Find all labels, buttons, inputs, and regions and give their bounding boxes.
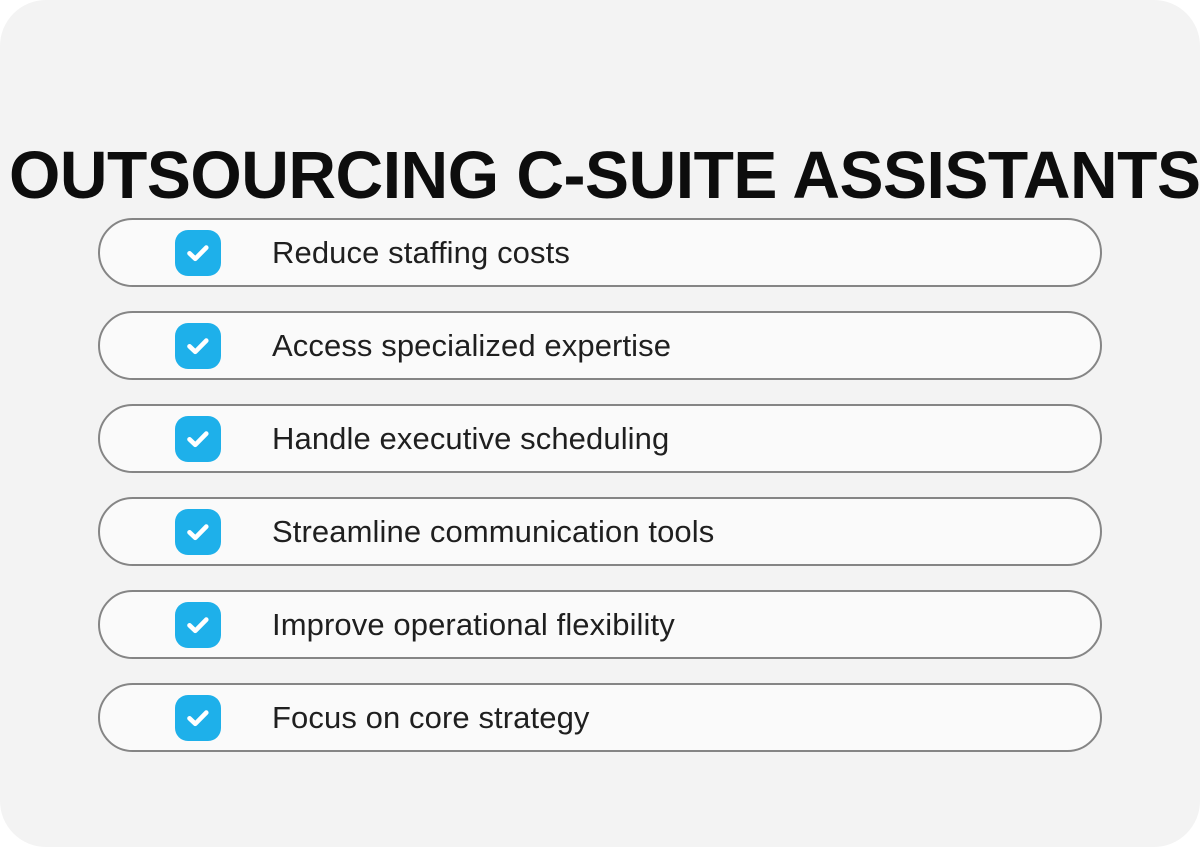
check-icon — [183, 517, 213, 547]
checklist: Reduce staffing costs Access specialized… — [98, 218, 1102, 752]
page-title: OUTSOURCING C-SUITE ASSISTANTS — [9, 142, 1191, 209]
list-item-label: Focus on core strategy — [272, 700, 590, 736]
check-icon — [183, 331, 213, 361]
list-item-label: Streamline communication tools — [272, 514, 714, 550]
list-item-label: Improve operational flexibility — [272, 607, 675, 643]
checklist-card: OUTSOURCING C-SUITE ASSISTANTS Reduce st… — [0, 0, 1200, 847]
check-icon — [183, 238, 213, 268]
checkbox-checked[interactable] — [175, 509, 221, 555]
check-icon — [183, 610, 213, 640]
list-item[interactable]: Focus on core strategy — [98, 683, 1102, 752]
check-icon — [183, 703, 213, 733]
list-item-label: Access specialized expertise — [272, 328, 671, 364]
checkbox-checked[interactable] — [175, 230, 221, 276]
list-item[interactable]: Streamline communication tools — [98, 497, 1102, 566]
list-item[interactable]: Handle executive scheduling — [98, 404, 1102, 473]
list-item-label: Reduce staffing costs — [272, 235, 570, 271]
list-item[interactable]: Reduce staffing costs — [98, 218, 1102, 287]
list-item[interactable]: Access specialized expertise — [98, 311, 1102, 380]
checkbox-checked[interactable] — [175, 695, 221, 741]
checkbox-checked[interactable] — [175, 323, 221, 369]
checkbox-checked[interactable] — [175, 416, 221, 462]
list-item[interactable]: Improve operational flexibility — [98, 590, 1102, 659]
checkbox-checked[interactable] — [175, 602, 221, 648]
check-icon — [183, 424, 213, 454]
list-item-label: Handle executive scheduling — [272, 421, 669, 457]
